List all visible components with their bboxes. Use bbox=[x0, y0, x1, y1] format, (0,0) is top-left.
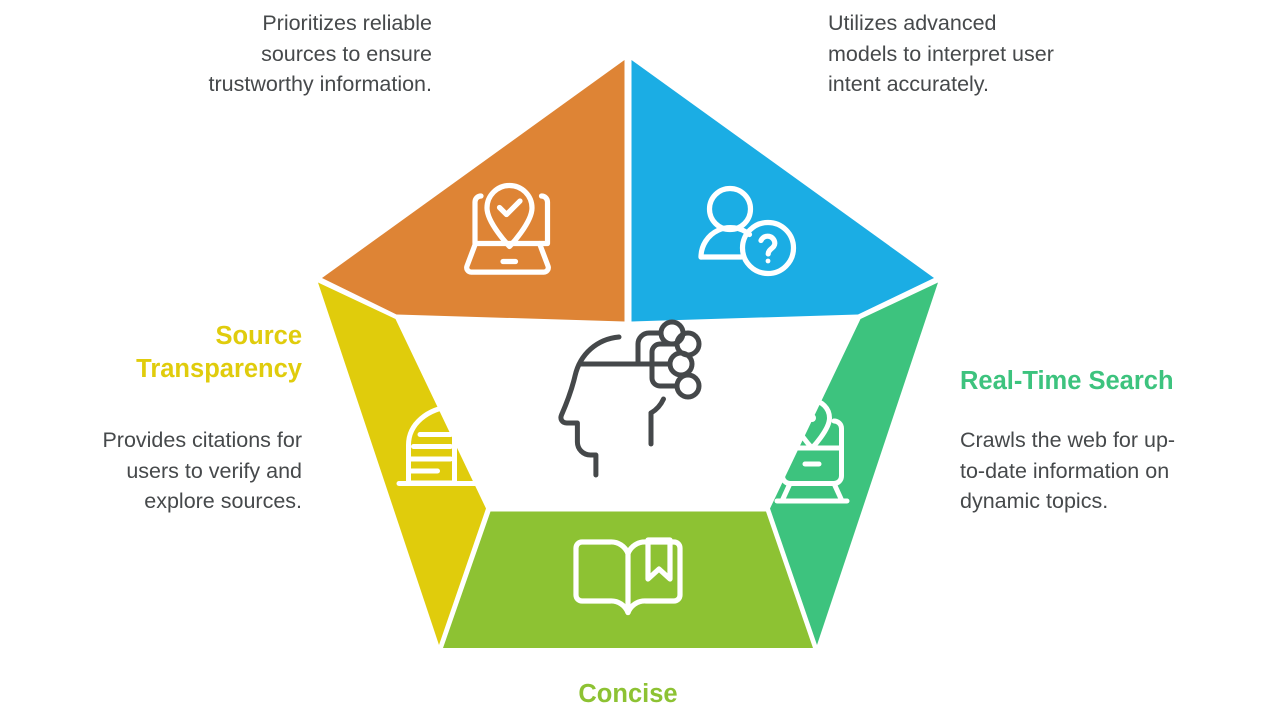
infographic-canvas: Prioritizes reliable sources to ensure t… bbox=[0, 0, 1280, 719]
segment-real-time-search[interactable] bbox=[770, 283, 938, 646]
description-real-time-search: Crawls the web for up- to-date informati… bbox=[960, 425, 1232, 517]
description-source-reliability: Prioritizes reliable sources to ensure t… bbox=[20, 8, 432, 100]
description-source-transparency: Provides citations for users to verify a… bbox=[20, 425, 302, 517]
ai-head-circuit-icon bbox=[561, 322, 699, 475]
heading-real-time-search: Real-Time Search bbox=[960, 365, 1260, 398]
segment-concise[interactable] bbox=[443, 512, 813, 649]
heading-source-transparency: Source Transparency bbox=[20, 320, 302, 386]
heading-concise: Concise bbox=[478, 678, 778, 711]
segment-shape-source-transparency[interactable] bbox=[318, 283, 486, 646]
segment-shape-real-time-search[interactable] bbox=[770, 283, 938, 646]
segment-source-transparency[interactable] bbox=[318, 283, 487, 646]
description-query-understanding: Utilizes advanced models to interpret us… bbox=[828, 8, 1260, 100]
